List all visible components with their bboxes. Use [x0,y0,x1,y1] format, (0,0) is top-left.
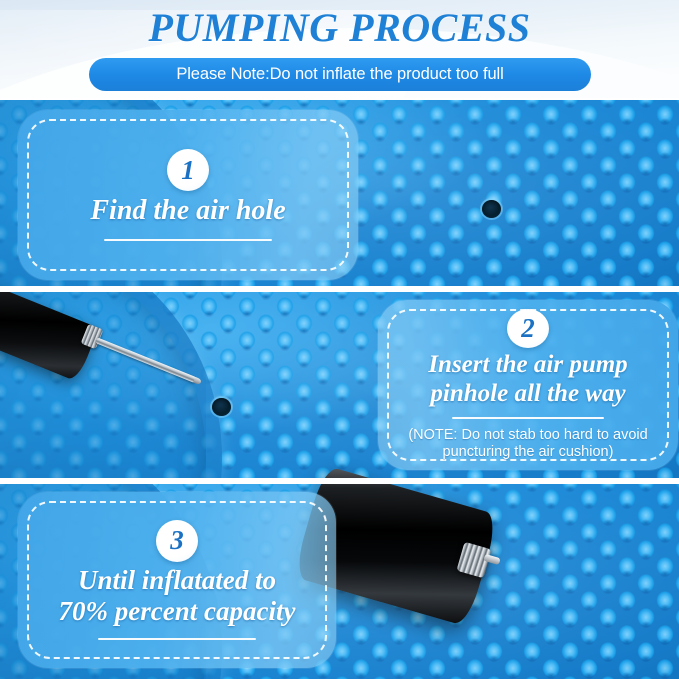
step-1-divider [104,239,272,241]
air-hole-icon [482,200,501,218]
step-2-caption-card: 2 Insert the air pump pinhole all the wa… [378,300,678,470]
step-2-title-line-2: pinhole all the way [430,380,625,408]
step-2-number-badge: 2 [507,309,549,348]
header-banner: PUMPING PROCESS Please Note:Do not infla… [0,0,679,98]
step-3-title-line-2: 70% percent capacity [59,596,296,626]
step-3-divider [98,638,256,640]
note-banner: Please Note:Do not inflate the product t… [89,58,591,91]
step-2-title-line-1: Insert the air pump [428,351,627,379]
note-banner-label: Please Note:Do not inflate the product t… [176,65,503,84]
step-2-note-line-2: puncturing the air cushion) [443,444,614,461]
step-3-title-line-1: Until inflatated to [78,565,276,595]
step-2-divider [452,417,604,419]
panel-separator [0,286,679,292]
step-1-number-badge: 1 [167,149,209,191]
step-1-caption-card: 1 Find the air hole [18,110,358,280]
air-hole-icon [212,398,231,416]
step-3-caption-card: 3 Until inflatated to 70% percent capaci… [18,492,336,668]
pumping-process-infographic: PUMPING PROCESS Please Note:Do not infla… [0,0,679,679]
step-1-title: Find the air hole [90,195,285,226]
step-2-note-line-1: (NOTE: Do not stab too hard to avoid [408,427,647,444]
panel-separator [0,478,679,484]
page-title: PUMPING PROCESS [0,4,679,51]
step-3-number-badge: 3 [156,520,198,562]
